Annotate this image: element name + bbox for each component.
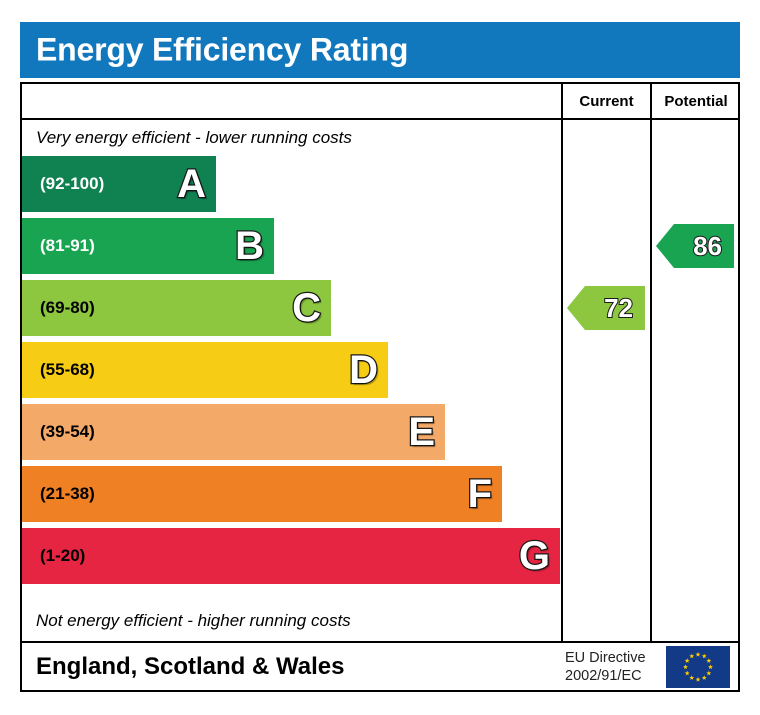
page-title: Energy Efficiency Rating [36, 32, 408, 69]
band-range-b: (81-91) [40, 236, 95, 256]
rating-band-d: (55-68)D [22, 342, 388, 398]
rating-chart: Current Potential Very energy efficient … [20, 82, 740, 643]
note-efficient: Very energy efficient - lower running co… [36, 120, 352, 156]
band-letter-c: C [292, 288, 321, 328]
energy-efficiency-certificate: Energy Efficiency Rating Current Potenti… [20, 22, 740, 692]
rating-marker-potential: 86 [656, 224, 734, 268]
column-divider-2 [650, 84, 652, 641]
band-letter-d: D [349, 350, 378, 390]
rating-band-g: (1-20)G [22, 528, 560, 584]
column-divider-1 [561, 84, 563, 641]
band-letter-e: E [408, 412, 435, 452]
rating-band-f: (21-38)F [22, 466, 502, 522]
rating-value-potential: 86 [693, 233, 722, 259]
chart-footer: England, Scotland & Wales EU Directive 2… [20, 641, 740, 692]
band-letter-b: B [235, 226, 264, 266]
band-letter-f: F [468, 474, 492, 514]
rating-band-b: (81-91)B [22, 218, 274, 274]
band-range-c: (69-80) [40, 298, 95, 318]
rating-band-a: (92-100)A [22, 156, 216, 212]
footer-directive: EU Directive 2002/91/EC [565, 648, 646, 684]
column-header-potential: Potential [652, 84, 740, 118]
band-letter-g: G [519, 536, 550, 576]
rating-marker-current: 72 [567, 286, 645, 330]
rating-band-e: (39-54)E [22, 404, 445, 460]
band-range-a: (92-100) [40, 174, 104, 194]
column-header-current: Current [563, 84, 650, 118]
rating-value-current: 72 [604, 295, 633, 321]
eu-flag-icon [666, 646, 730, 688]
note-inefficient: Not energy efficient - higher running co… [36, 603, 351, 639]
rating-band-c: (69-80)C [22, 280, 331, 336]
footer-region-label: England, Scotland & Wales [36, 653, 344, 681]
band-letter-a: A [177, 164, 206, 204]
band-range-f: (21-38) [40, 484, 95, 504]
footer-directive-line2: 2002/91/EC [565, 667, 646, 685]
footer-directive-line1: EU Directive [565, 648, 646, 666]
band-range-e: (39-54) [40, 422, 95, 442]
band-range-g: (1-20) [40, 546, 85, 566]
band-range-d: (55-68) [40, 360, 95, 380]
column-header-row: Current Potential [22, 84, 738, 120]
chart-title-bar: Energy Efficiency Rating [20, 22, 740, 78]
bands-area: Very energy efficient - lower running co… [22, 120, 561, 641]
eu-flag-stars [666, 646, 730, 688]
